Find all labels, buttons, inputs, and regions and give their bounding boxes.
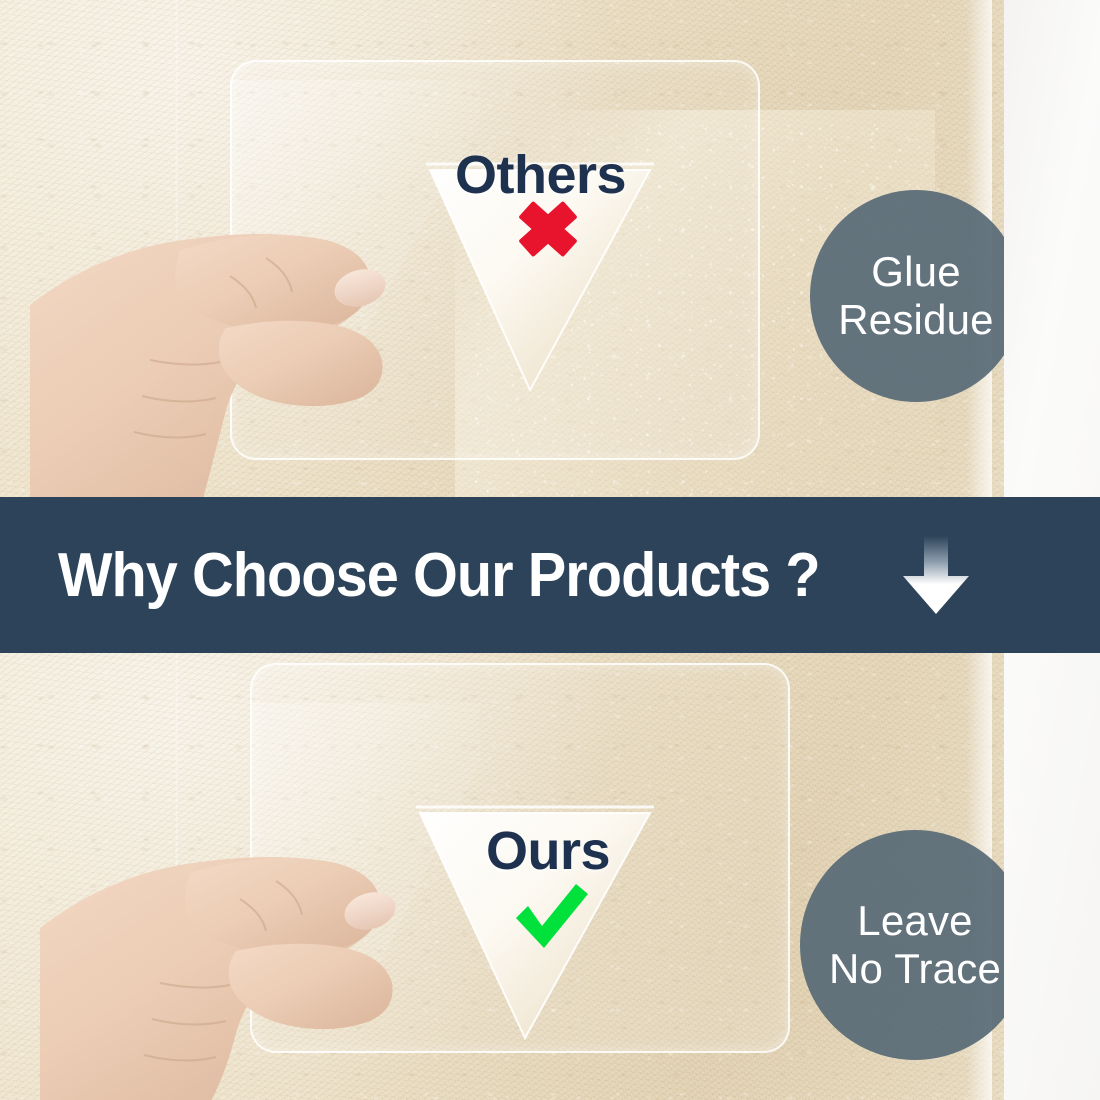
glue-residue-badge: Glue Residue <box>810 190 1010 402</box>
cross-mark-icon <box>514 196 582 262</box>
ours-label: Ours <box>486 820 610 882</box>
why-choose-banner: Why Choose Our Products ? <box>0 497 1100 653</box>
ours-comparison-panel: Ours Leave No Trace <box>0 653 1010 1100</box>
glue-residue-badge-line1: Glue <box>838 248 994 296</box>
wall-panel-seam-top <box>175 0 178 500</box>
others-comparison-panel: Others Glue Residue <box>0 0 1010 500</box>
leave-no-trace-badge-line2: No Trace <box>829 945 1001 993</box>
check-mark-icon <box>508 878 594 956</box>
banner-title: Why Choose Our Products ? <box>58 540 820 611</box>
leave-no-trace-badge-line1: Leave <box>829 897 1001 945</box>
arrow-down-icon <box>897 532 975 618</box>
product-comparison-infographic: Others Glue Residue <box>0 0 1100 1100</box>
wall-panel-seam-bottom <box>175 653 178 1100</box>
glue-residue-badge-line2: Residue <box>838 296 994 344</box>
